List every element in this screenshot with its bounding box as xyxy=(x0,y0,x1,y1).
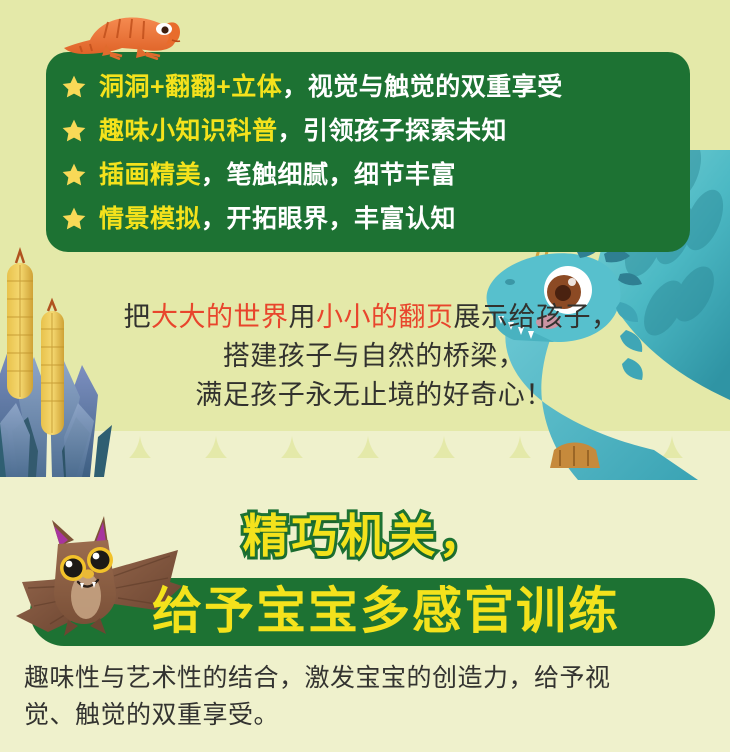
mid-copy-line-1: 把大大的世界用小小的翻页展示给孩子， xyxy=(18,298,730,337)
mid-copy: 把大大的世界用小小的翻页展示给孩子， 搭建孩子与自然的桥梁， 满足孩子永无止境的… xyxy=(0,298,730,415)
headline-line-1: 精巧机关， xyxy=(0,508,730,564)
star-icon xyxy=(61,206,87,232)
mid-text-e: 展示给孩子， xyxy=(454,302,619,332)
mid-copy-line-3: 满足孩子永无止境的好奇心！ xyxy=(18,376,730,415)
mid-text-highlight-2: 小小的翻页 xyxy=(316,302,454,332)
star-icon xyxy=(61,162,87,188)
headline-line-1-wrap: 精巧机关， xyxy=(0,508,730,564)
feature-row: 洞洞+翻翻+立体，视觉与触觉的双重享受 xyxy=(46,65,690,109)
feature-highlight: 趣味小知识科普 xyxy=(99,117,278,145)
bottom-copy-line-1: 趣味性与艺术性的结合，激发宝宝的创造力，给予视 xyxy=(24,660,714,697)
feature-list: 洞洞+翻翻+立体，视觉与触觉的双重享受 趣味小知识科普，引领孩子探索未知 插画精… xyxy=(46,52,690,241)
orange-lizard-illustration xyxy=(62,0,182,60)
feature-highlight: 情景模拟 xyxy=(99,205,201,233)
feature-row: 情景模拟，开拓眼界，丰富认知 xyxy=(46,197,690,241)
feature-rest: ，引领孩子探索未知 xyxy=(278,117,508,145)
feature-highlight: 洞洞+翻翻+立体 xyxy=(99,73,282,101)
feature-rest: ，笔触细腻，细节丰富 xyxy=(201,161,456,189)
feature-highlight: 插画精美 xyxy=(99,161,201,189)
star-icon xyxy=(61,118,87,144)
mid-text-c: 用 xyxy=(289,302,317,332)
feature-text: 趣味小知识科普，引领孩子探索未知 xyxy=(99,117,507,145)
headline-line-2: 给予宝宝多感官训练 xyxy=(0,576,730,646)
mid-copy-line-2: 搭建孩子与自然的桥梁， xyxy=(18,337,730,376)
feature-row: 趣味小知识科普，引领孩子探索未知 xyxy=(46,109,690,153)
mid-text-a: 把 xyxy=(124,302,152,332)
feature-rest: ，视觉与触觉的双重享受 xyxy=(282,73,563,101)
feature-box: 洞洞+翻翻+立体，视觉与触觉的双重享受 趣味小知识科普，引领孩子探索未知 插画精… xyxy=(46,52,690,252)
feature-text: 插画精美，笔触细腻，细节丰富 xyxy=(99,161,456,189)
star-icon xyxy=(61,74,87,100)
feature-text: 洞洞+翻翻+立体，视觉与触觉的双重享受 xyxy=(99,73,563,101)
feature-text: 情景模拟，开拓眼界，丰富认知 xyxy=(99,205,456,233)
mid-text-highlight-1: 大大的世界 xyxy=(151,302,289,332)
bottom-copy: 趣味性与艺术性的结合，激发宝宝的创造力，给予视 觉、触觉的双重享受。 xyxy=(24,660,714,734)
promo-page: 洞洞+翻翻+立体，视觉与触觉的双重享受 趣味小知识科普，引领孩子探索未知 插画精… xyxy=(0,0,730,752)
feature-row: 插画精美，笔触细腻，细节丰富 xyxy=(46,153,690,197)
feature-rest: ，开拓眼界，丰富认知 xyxy=(201,205,456,233)
bottom-copy-line-2: 觉、触觉的双重享受。 xyxy=(24,697,714,734)
